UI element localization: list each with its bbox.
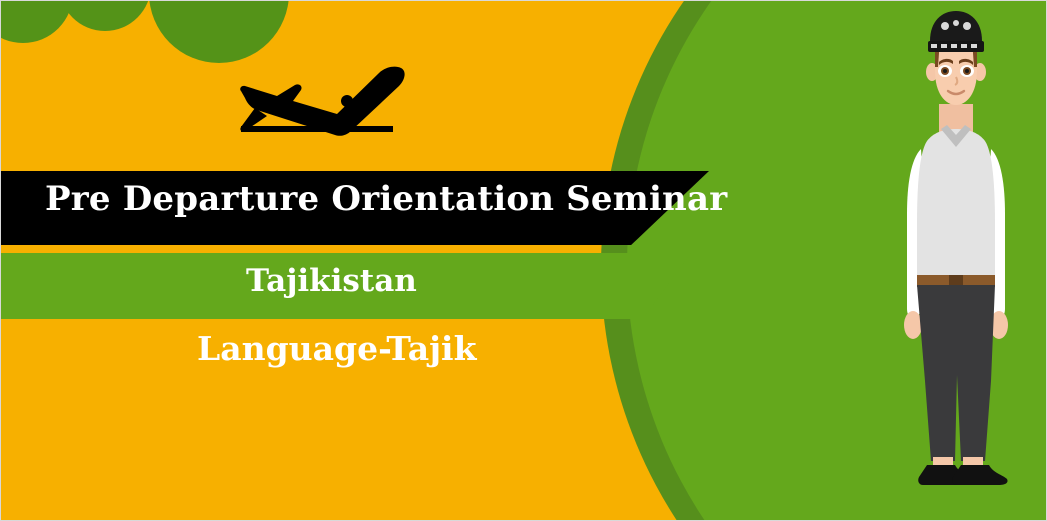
poster-canvas: Pre Departure Orientation Seminar Tajiki… <box>0 0 1047 521</box>
scallop-circle-2 <box>59 0 151 31</box>
runway-line <box>241 126 393 132</box>
language-label: Language-Tajik <box>197 329 476 368</box>
tajik-man-illustration <box>861 9 1047 499</box>
country-label: Tajikistan <box>246 263 417 299</box>
tubeteika-cap-icon <box>928 11 984 52</box>
scallop-circle-1 <box>0 0 73 43</box>
page-title: Pre Departure Orientation Seminar <box>45 179 727 219</box>
